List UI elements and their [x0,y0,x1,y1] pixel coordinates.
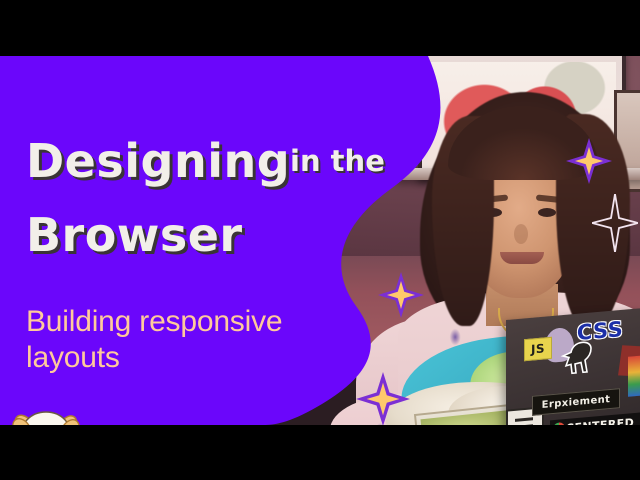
title-line-2: Browser [26,208,243,262]
sparkle-mid [378,272,424,318]
letterbox-bar-top [0,0,640,56]
title-line-1-suffix: in the [290,144,385,178]
sparkle-lower [356,372,410,425]
sparkle-frame [566,138,612,184]
dog-logo [4,406,88,425]
sparkle-right [592,194,638,252]
video-frame: CSS JS Erpxiement CENTERED [0,56,640,425]
letterbox-bar-bottom [0,425,640,480]
title-line-1: Designing [26,134,290,188]
subtitle: Building responsive layouts [26,304,356,376]
video-thumbnail: CSS JS Erpxiement CENTERED [0,0,640,480]
